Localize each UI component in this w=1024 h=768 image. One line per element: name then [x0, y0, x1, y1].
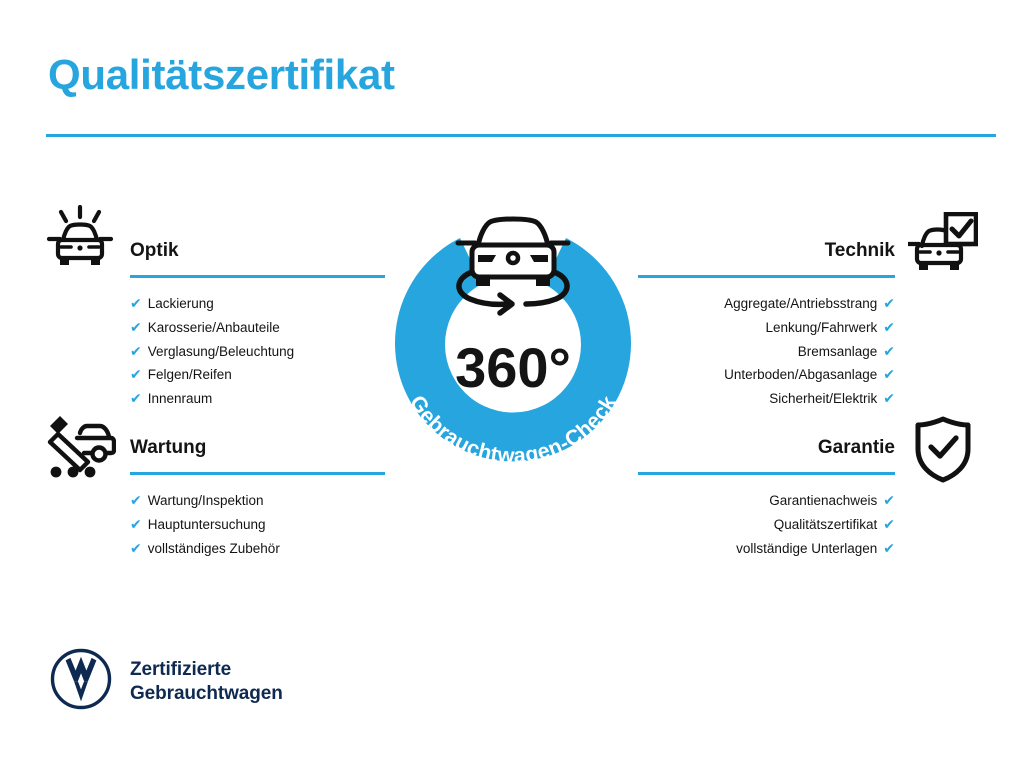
check-icon: ✔: [883, 320, 895, 334]
checklist-item: Aggregate/Antriebsstrang✔: [638, 292, 895, 316]
check-icon: ✔: [883, 493, 895, 507]
section-technik-divider: [638, 275, 895, 278]
checklist-item: Unterboden/Abgasanlage✔: [638, 363, 895, 387]
section-wartung-list: ✔Wartung/Inspektion✔Hauptuntersuchung✔vo…: [130, 475, 385, 560]
checklist-item: ✔vollständiges Zubehör: [130, 537, 385, 561]
car-dipstick-oil-icon: [44, 412, 116, 485]
section-optik-divider: [130, 275, 385, 278]
checklist-item-label: Aggregate/Antriebsstrang: [724, 292, 877, 316]
checklist-item: Garantienachweis✔: [638, 489, 895, 513]
section-optik: Optik ✔Lackierung✔Karosserie/Anbauteile✔…: [130, 238, 385, 411]
footer-wordmark: Zertifizierte Gebrauchtwagen: [130, 658, 283, 706]
checklist-item: ✔Karosserie/Anbauteile: [130, 316, 385, 340]
check-icon: ✔: [883, 391, 895, 405]
check-icon: ✔: [130, 344, 142, 358]
checklist-item-label: vollständiges Zubehör: [148, 537, 280, 561]
360-check-badge: 360° Gebrauchtwagen-Check: [368, 192, 658, 492]
checklist-item-label: Lackierung: [148, 292, 214, 316]
section-garantie: Garantie Garantienachweis✔Qualitätszerti…: [638, 435, 895, 560]
shield-check-icon: [912, 415, 974, 488]
section-garantie-list: Garantienachweis✔Qualitätszertifikat✔vol…: [638, 475, 895, 560]
section-technik: Technik Aggregate/Antriebsstrang✔Lenkung…: [638, 238, 895, 411]
checklist-item-label: Wartung/Inspektion: [148, 489, 264, 513]
checklist-item: ✔Innenraum: [130, 387, 385, 411]
checklist-item: ✔Felgen/Reifen: [130, 363, 385, 387]
check-icon: ✔: [883, 541, 895, 555]
car-checkbox-icon: [908, 212, 978, 283]
checklist-item-label: Verglasung/Beleuchtung: [148, 340, 294, 364]
checklist-item: Sicherheit/Elektrik✔: [638, 387, 895, 411]
volkswagen-logo: [50, 648, 112, 715]
footer-line2: Gebrauchtwagen: [130, 683, 283, 704]
section-garantie-title: Garantie: [638, 435, 895, 461]
footer-brand: Zertifizierte Gebrauchtwagen: [50, 648, 283, 715]
checklist-item-label: Felgen/Reifen: [148, 363, 232, 387]
checklist-item: ✔Wartung/Inspektion: [130, 489, 385, 513]
checklist-item-label: Bremsanlage: [798, 340, 878, 364]
checklist-item: vollständige Unterlagen✔: [638, 537, 895, 561]
section-optik-header: Optik: [130, 238, 385, 278]
section-optik-list: ✔Lackierung✔Karosserie/Anbauteile✔Vergla…: [130, 278, 385, 411]
page-title: Qualitätszertifikat: [48, 52, 395, 98]
check-icon: ✔: [883, 344, 895, 358]
checklist-item-label: Sicherheit/Elektrik: [769, 387, 877, 411]
car-shine-icon: [45, 205, 115, 276]
badge-value: 360°: [455, 336, 571, 399]
check-icon: ✔: [883, 517, 895, 531]
section-wartung-divider: [130, 472, 385, 475]
checklist-item: ✔Lackierung: [130, 292, 385, 316]
checklist-item: Bremsanlage✔: [638, 340, 895, 364]
check-icon: ✔: [130, 517, 142, 531]
check-icon: ✔: [883, 296, 895, 310]
checklist-item: Lenkung/Fahrwerk✔: [638, 316, 895, 340]
checklist-item-label: Karosserie/Anbauteile: [148, 316, 280, 340]
check-icon: ✔: [130, 296, 142, 310]
title-divider: [46, 134, 996, 137]
checklist-item-label: vollständige Unterlagen: [736, 537, 877, 561]
section-technik-list: Aggregate/Antriebsstrang✔Lenkung/Fahrwer…: [638, 278, 895, 411]
check-icon: ✔: [883, 367, 895, 381]
checklist-item-label: Lenkung/Fahrwerk: [765, 316, 877, 340]
footer-line1: Zertifizierte: [130, 659, 231, 680]
section-optik-title: Optik: [130, 238, 385, 264]
checklist-item: ✔Verglasung/Beleuchtung: [130, 340, 385, 364]
check-icon: ✔: [130, 320, 142, 334]
section-technik-header: Technik: [638, 238, 895, 278]
section-garantie-divider: [638, 472, 895, 475]
section-wartung-header: Wartung: [130, 435, 385, 475]
check-icon: ✔: [130, 367, 142, 381]
checklist-item: Qualitätszertifikat✔: [638, 513, 895, 537]
check-icon: ✔: [130, 391, 142, 405]
section-wartung: Wartung ✔Wartung/Inspektion✔Hauptuntersu…: [130, 435, 385, 560]
checklist-item-label: Innenraum: [148, 387, 213, 411]
checklist-item-label: Hauptuntersuchung: [148, 513, 266, 537]
checklist-item: ✔Hauptuntersuchung: [130, 513, 385, 537]
section-technik-title: Technik: [638, 238, 895, 264]
check-icon: ✔: [130, 493, 142, 507]
checklist-item-label: Qualitätszertifikat: [774, 513, 878, 537]
checklist-item-label: Unterboden/Abgasanlage: [724, 363, 877, 387]
section-wartung-title: Wartung: [130, 435, 385, 461]
check-icon: ✔: [130, 541, 142, 555]
checklist-item-label: Garantienachweis: [769, 489, 877, 513]
section-garantie-header: Garantie: [638, 435, 895, 475]
